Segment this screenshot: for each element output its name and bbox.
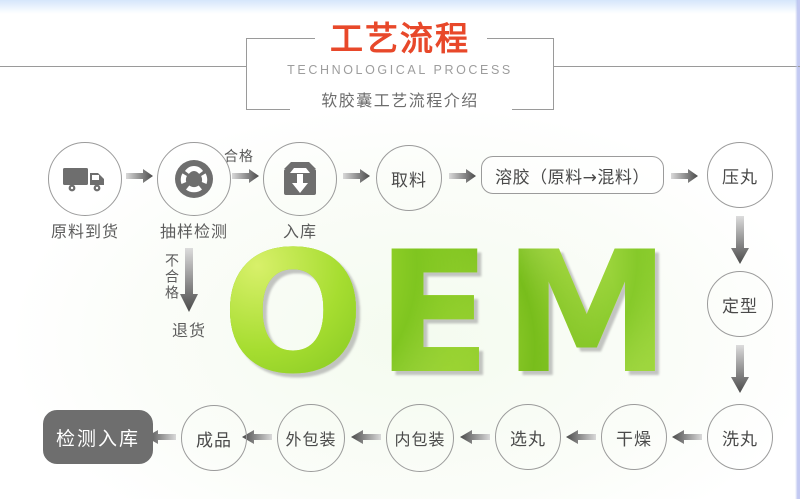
arrow-sampling-to-storage <box>232 168 260 184</box>
node-select-pellet[interactable]: 选丸 <box>495 404 561 470</box>
arrow-shaping-to-wash <box>731 345 749 393</box>
node-sol-gel[interactable]: 溶胶（原料→混料） <box>481 156 664 194</box>
node-finished-product-label: 成品 <box>196 426 232 451</box>
node-warehouse-in[interactable] <box>263 142 337 216</box>
node-press-pellet-label: 压丸 <box>722 163 758 188</box>
page-title: 工艺流程 <box>0 20 800 58</box>
arrow-storage-to-take-material <box>343 168 371 184</box>
arrow-wash-to-drying <box>672 429 702 445</box>
inspection-icon <box>173 158 215 200</box>
node-material-arrival[interactable] <box>48 142 122 216</box>
node-inner-packing-label: 内包装 <box>394 426 445 450</box>
node-wash-pellet[interactable]: 洗丸 <box>707 404 773 470</box>
node-press-pellet[interactable]: 压丸 <box>707 142 773 208</box>
node-drying[interactable]: 干燥 <box>601 404 667 470</box>
arrow-arrival-to-sampling <box>126 168 154 184</box>
label-fail: 不合格 <box>161 253 181 301</box>
node-shaping[interactable]: 定型 <box>707 271 773 337</box>
node-take-material-label: 取料 <box>391 166 427 191</box>
node-final-inspection-storage-label: 检测入库 <box>56 424 140 451</box>
node-final-inspection-storage[interactable]: 检测入库 <box>43 410 153 464</box>
node-finished-product[interactable]: 成品 <box>181 405 247 471</box>
node-outer-packing-label: 外包装 <box>285 426 336 450</box>
arrow-inner-to-outer-packing <box>351 429 381 445</box>
page-title-english: TECHNOLOGICAL PROCESS <box>0 62 800 78</box>
arrow-drying-to-select <box>566 429 596 445</box>
truck-icon <box>62 164 108 194</box>
node-wash-pellet-label: 洗丸 <box>722 425 758 450</box>
node-drying-label: 干燥 <box>616 425 652 450</box>
caption-material-arrival: 原料到货 <box>28 218 142 242</box>
inbox-arrow-down-icon <box>280 160 320 198</box>
node-sampling-inspection[interactable] <box>157 142 231 216</box>
oem-watermark: OEM <box>196 228 708 398</box>
page-header: 工艺流程 TECHNOLOGICAL PROCESS 软胶囊工艺流程介绍 <box>0 14 800 118</box>
page-canvas: 工艺流程 TECHNOLOGICAL PROCESS 软胶囊工艺流程介绍 OEM… <box>0 0 800 499</box>
caption-warehouse-in: 入库 <box>258 218 342 242</box>
node-inner-packing[interactable]: 内包装 <box>386 404 454 472</box>
arrow-take-material-to-sol-gel <box>449 168 477 184</box>
arrow-press-to-shaping <box>731 216 749 264</box>
caption-return: 退货 <box>142 317 236 341</box>
node-shaping-label: 定型 <box>722 292 758 317</box>
label-pass: 合格 <box>224 146 254 166</box>
caption-sampling-inspection: 抽样检测 <box>137 218 251 242</box>
node-select-pellet-label: 选丸 <box>510 425 546 450</box>
node-outer-packing[interactable]: 外包装 <box>277 404 345 472</box>
arrow-fail-to-return <box>180 248 198 312</box>
node-take-material[interactable]: 取料 <box>376 145 442 211</box>
node-sol-gel-label: 溶胶（原料→混料） <box>495 163 650 188</box>
arrow-sol-gel-to-press <box>671 168 699 184</box>
arrow-select-to-inner-packing <box>460 429 490 445</box>
page-subtitle: 软胶囊工艺流程介绍 <box>0 90 800 112</box>
page-subtitle-text: 软胶囊工艺流程介绍 <box>313 91 487 110</box>
